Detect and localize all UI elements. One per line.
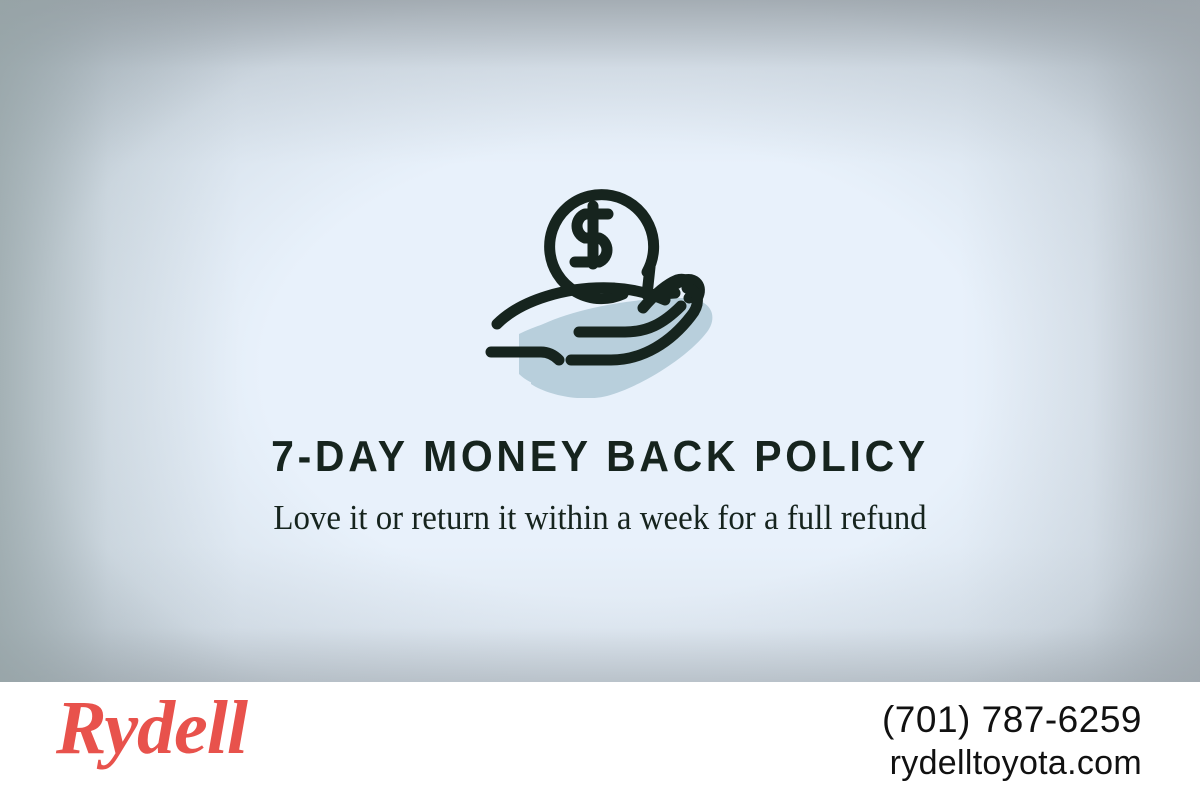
hand-holding-money-refund-icon [475,148,725,398]
dollar-sign-icon [575,206,608,264]
page-title: 7-DAY MONEY BACK POLICY [42,432,1158,482]
rydell-logo[interactable]: Rydell [56,690,247,766]
phone-number[interactable]: (701) 787-6259 [882,698,1142,742]
icon-container [0,148,1200,398]
contact-block: (701) 787-6259 rydelltoyota.com [882,698,1142,784]
page-subtitle: Love it or return it within a week for a… [252,495,948,540]
website-url[interactable]: rydelltoyota.com [882,742,1142,784]
footer-bar: Rydell (701) 787-6259 rydelltoyota.com [0,682,1200,800]
page-subtitle-text: Love it or return it within a week for a… [273,498,926,537]
promo-poster: 7-DAY MONEY BACK POLICY Love it or retur… [0,0,1200,800]
